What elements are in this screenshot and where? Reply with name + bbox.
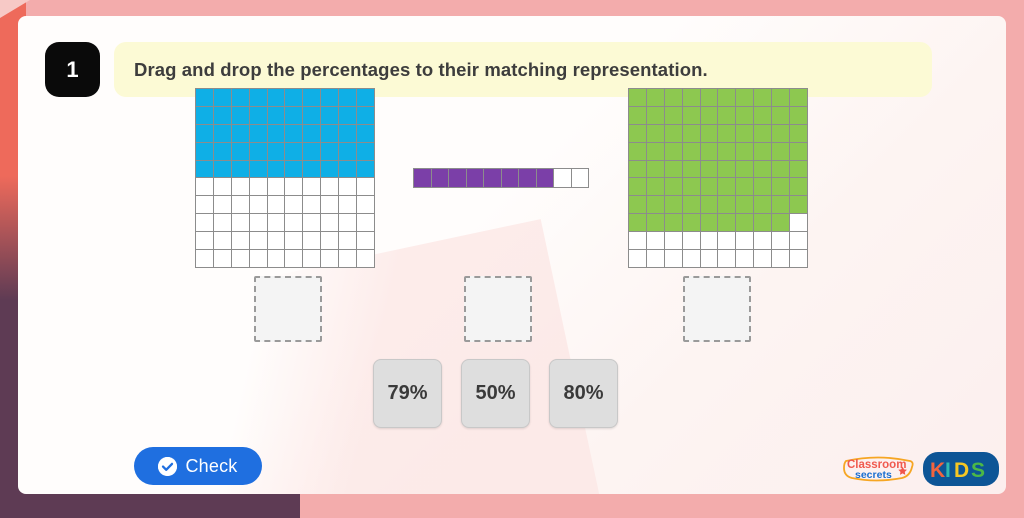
shaded-cell — [683, 196, 700, 213]
shaded-cell — [629, 161, 646, 178]
shaded-cell — [772, 161, 789, 178]
unshaded-cell — [250, 214, 267, 231]
shaded-cell — [196, 125, 213, 142]
unshaded-cell — [232, 214, 249, 231]
classroom-secrets-logo: Classroom secrets — [840, 452, 918, 486]
shaded-cell — [214, 89, 231, 106]
shaded-cell — [683, 125, 700, 142]
shaded-cell — [665, 178, 682, 195]
shaded-cell — [718, 214, 735, 231]
shaded-cell — [772, 89, 789, 106]
shaded-cell — [736, 214, 753, 231]
shaded-cell — [357, 161, 374, 178]
shaded-cell — [701, 143, 718, 160]
unshaded-cell — [701, 232, 718, 249]
shaded-cell — [214, 107, 231, 124]
shaded-cell — [665, 143, 682, 160]
shaded-cell — [250, 107, 267, 124]
unshaded-cell — [232, 196, 249, 213]
shaded-cell — [414, 169, 431, 187]
secrets-word: secrets — [855, 469, 892, 481]
unshaded-cell — [754, 232, 771, 249]
shaded-cell — [339, 125, 356, 142]
shaded-cell — [232, 107, 249, 124]
dropzone-purple[interactable] — [464, 276, 532, 342]
shaded-cell — [790, 178, 807, 195]
unshaded-cell — [214, 250, 231, 267]
unshaded-cell — [214, 232, 231, 249]
shaded-cell — [357, 143, 374, 160]
shaded-cell — [268, 161, 285, 178]
shaded-cell — [303, 107, 320, 124]
unshaded-cell — [647, 250, 664, 267]
unshaded-cell — [357, 214, 374, 231]
shaded-cell — [701, 125, 718, 142]
shaded-cell — [357, 125, 374, 142]
unshaded-cell — [357, 178, 374, 195]
shaded-cell — [718, 161, 735, 178]
unshaded-cell — [339, 178, 356, 195]
shaded-cell — [629, 178, 646, 195]
green-hundred-square — [628, 88, 808, 268]
shaded-cell — [790, 107, 807, 124]
unshaded-cell — [629, 250, 646, 267]
unshaded-cell — [683, 232, 700, 249]
shaded-cell — [214, 125, 231, 142]
shaded-cell — [339, 89, 356, 106]
unshaded-cell — [268, 196, 285, 213]
unshaded-cell — [339, 196, 356, 213]
shaded-cell — [285, 161, 302, 178]
shaded-cell — [321, 125, 338, 142]
shaded-cell — [357, 89, 374, 106]
shaded-cell — [754, 196, 771, 213]
shaded-cell — [647, 161, 664, 178]
shaded-cell — [701, 107, 718, 124]
shaded-cell — [718, 143, 735, 160]
shaded-cell — [339, 161, 356, 178]
unshaded-cell — [268, 178, 285, 195]
unshaded-cell — [718, 250, 735, 267]
shaded-cell — [772, 196, 789, 213]
shaded-cell — [629, 125, 646, 142]
shaded-cell — [665, 125, 682, 142]
unshaded-cell — [357, 196, 374, 213]
shaded-cell — [790, 125, 807, 142]
unshaded-cell — [303, 196, 320, 213]
unshaded-cell — [214, 214, 231, 231]
shaded-cell — [754, 178, 771, 195]
shaded-cell — [647, 89, 664, 106]
shaded-cell — [736, 178, 753, 195]
shaded-cell — [683, 89, 700, 106]
unshaded-cell — [339, 250, 356, 267]
unshaded-cell — [790, 250, 807, 267]
shaded-cell — [754, 161, 771, 178]
shaded-cell — [268, 125, 285, 142]
unshaded-cell — [285, 196, 302, 213]
shaded-cell — [736, 107, 753, 124]
shaded-cell — [214, 143, 231, 160]
shaded-cell — [214, 161, 231, 178]
shaded-cell — [629, 196, 646, 213]
unshaded-cell — [665, 250, 682, 267]
unshaded-cell — [268, 214, 285, 231]
shaded-cell — [772, 143, 789, 160]
shaded-cell — [772, 178, 789, 195]
shaded-cell — [701, 196, 718, 213]
shaded-cell — [790, 161, 807, 178]
unshaded-cell — [285, 178, 302, 195]
shaded-cell — [665, 214, 682, 231]
shaded-cell — [772, 214, 789, 231]
unshaded-cell — [250, 250, 267, 267]
activity-card: 1 Drag and drop the percentages to their… — [18, 16, 1006, 494]
shaded-cell — [502, 169, 519, 187]
unshaded-cell — [321, 214, 338, 231]
instruction-text: Drag and drop the percentages to their m… — [134, 59, 708, 81]
unshaded-cell — [790, 232, 807, 249]
shaded-cell — [467, 169, 484, 187]
shaded-cell — [250, 89, 267, 106]
shaded-cell — [647, 107, 664, 124]
shaded-cell — [718, 196, 735, 213]
shaded-cell — [754, 107, 771, 124]
unshaded-cell — [303, 214, 320, 231]
shaded-cell — [449, 169, 466, 187]
purple-ten-bar — [413, 168, 589, 188]
shaded-cell — [647, 196, 664, 213]
kids-letter-d: D — [954, 459, 969, 482]
shaded-cell — [701, 89, 718, 106]
shaded-cell — [321, 161, 338, 178]
shaded-cell — [790, 196, 807, 213]
shaded-cell — [232, 161, 249, 178]
answer-tile-label: 79% — [387, 382, 427, 405]
unshaded-cell — [303, 250, 320, 267]
unshaded-cell — [214, 196, 231, 213]
answer-tile[interactable]: 79% — [373, 359, 442, 428]
shaded-cell — [736, 143, 753, 160]
shaded-cell — [790, 143, 807, 160]
dropzone-blue[interactable] — [254, 276, 322, 342]
unshaded-cell — [321, 196, 338, 213]
unshaded-cell — [250, 232, 267, 249]
check-button-label: Check — [185, 456, 237, 477]
check-button[interactable]: Check — [134, 447, 262, 485]
kids-logo: K I D S — [923, 448, 999, 490]
shaded-cell — [250, 143, 267, 160]
unshaded-cell — [554, 169, 571, 187]
shaded-cell — [339, 107, 356, 124]
unshaded-cell — [683, 250, 700, 267]
unshaded-cell — [196, 196, 213, 213]
unshaded-cell — [665, 232, 682, 249]
shaded-cell — [303, 143, 320, 160]
unshaded-cell — [232, 250, 249, 267]
unshaded-cell — [214, 178, 231, 195]
shaded-cell — [647, 214, 664, 231]
unshaded-cell — [321, 178, 338, 195]
unshaded-cell — [196, 250, 213, 267]
shaded-cell — [736, 125, 753, 142]
unshaded-cell — [285, 250, 302, 267]
shaded-cell — [268, 143, 285, 160]
unshaded-cell — [701, 250, 718, 267]
shaded-cell — [484, 169, 501, 187]
shaded-cell — [250, 161, 267, 178]
shaded-cell — [683, 178, 700, 195]
shaded-cell — [629, 89, 646, 106]
unshaded-cell — [232, 232, 249, 249]
check-circle-icon — [158, 457, 177, 476]
shaded-cell — [285, 107, 302, 124]
shaded-cell — [647, 125, 664, 142]
shaded-cell — [718, 125, 735, 142]
shaded-cell — [647, 143, 664, 160]
shaded-cell — [285, 125, 302, 142]
unshaded-cell — [790, 214, 807, 231]
shaded-cell — [701, 178, 718, 195]
shaded-cell — [303, 89, 320, 106]
unshaded-cell — [736, 232, 753, 249]
shaded-cell — [285, 89, 302, 106]
unshaded-cell — [647, 232, 664, 249]
unshaded-cell — [196, 214, 213, 231]
shaded-cell — [432, 169, 449, 187]
shaded-cell — [665, 196, 682, 213]
shaded-cell — [629, 107, 646, 124]
unshaded-cell — [339, 214, 356, 231]
shaded-cell — [701, 161, 718, 178]
shaded-cell — [629, 214, 646, 231]
unshaded-cell — [321, 250, 338, 267]
unshaded-cell — [303, 232, 320, 249]
unshaded-cell — [772, 232, 789, 249]
unshaded-cell — [736, 250, 753, 267]
unshaded-cell — [285, 214, 302, 231]
shaded-cell — [754, 214, 771, 231]
blue-hundred-square — [195, 88, 375, 268]
shaded-cell — [196, 161, 213, 178]
answer-tile-label: 80% — [563, 382, 603, 405]
shaded-cell — [357, 107, 374, 124]
unshaded-cell — [772, 250, 789, 267]
unshaded-cell — [303, 178, 320, 195]
shaded-cell — [232, 143, 249, 160]
shaded-cell — [683, 214, 700, 231]
shaded-cell — [339, 143, 356, 160]
answer-tile-tray: 79%50%80% — [373, 359, 618, 428]
shaded-cell — [268, 89, 285, 106]
shaded-cell — [519, 169, 536, 187]
shaded-cell — [303, 125, 320, 142]
shaded-cell — [232, 125, 249, 142]
unshaded-cell — [232, 178, 249, 195]
unshaded-cell — [321, 232, 338, 249]
kids-letter-i: I — [945, 459, 951, 482]
answer-tile[interactable]: 80% — [549, 359, 618, 428]
shaded-cell — [196, 107, 213, 124]
shaded-cell — [736, 89, 753, 106]
shaded-cell — [718, 107, 735, 124]
shaded-cell — [196, 89, 213, 106]
unshaded-cell — [339, 232, 356, 249]
unshaded-cell — [357, 232, 374, 249]
shaded-cell — [754, 143, 771, 160]
shaded-cell — [754, 125, 771, 142]
shaded-cell — [232, 89, 249, 106]
shaded-cell — [321, 143, 338, 160]
answer-tile[interactable]: 50% — [461, 359, 530, 428]
shaded-cell — [665, 161, 682, 178]
shaded-cell — [736, 196, 753, 213]
shaded-cell — [683, 161, 700, 178]
shaded-cell — [250, 125, 267, 142]
question-number-badge: 1 — [45, 42, 100, 97]
dropzone-green[interactable] — [683, 276, 751, 342]
shaded-cell — [790, 89, 807, 106]
shaded-cell — [629, 143, 646, 160]
unshaded-cell — [754, 250, 771, 267]
shaded-cell — [647, 178, 664, 195]
shaded-cell — [537, 169, 554, 187]
shaded-cell — [665, 107, 682, 124]
shaded-cell — [196, 143, 213, 160]
shaded-cell — [285, 143, 302, 160]
shaded-cell — [321, 107, 338, 124]
shaded-cell — [303, 161, 320, 178]
shaded-cell — [754, 89, 771, 106]
unshaded-cell — [357, 250, 374, 267]
shaded-cell — [321, 89, 338, 106]
kids-letter-k: K — [930, 459, 945, 482]
shaded-cell — [718, 89, 735, 106]
unshaded-cell — [629, 232, 646, 249]
shaded-cell — [683, 107, 700, 124]
unshaded-cell — [285, 232, 302, 249]
shaded-cell — [268, 107, 285, 124]
shaded-cell — [701, 214, 718, 231]
unshaded-cell — [572, 169, 589, 187]
shaded-cell — [772, 107, 789, 124]
unshaded-cell — [268, 232, 285, 249]
kids-letter-s: S — [971, 459, 985, 482]
shaded-cell — [665, 89, 682, 106]
shaded-cell — [718, 178, 735, 195]
unshaded-cell — [196, 178, 213, 195]
shaded-cell — [736, 161, 753, 178]
unshaded-cell — [268, 250, 285, 267]
unshaded-cell — [196, 232, 213, 249]
question-number-label: 1 — [66, 57, 78, 83]
shaded-cell — [683, 143, 700, 160]
unshaded-cell — [250, 178, 267, 195]
shaded-cell — [772, 125, 789, 142]
unshaded-cell — [250, 196, 267, 213]
unshaded-cell — [718, 232, 735, 249]
answer-tile-label: 50% — [475, 382, 515, 405]
